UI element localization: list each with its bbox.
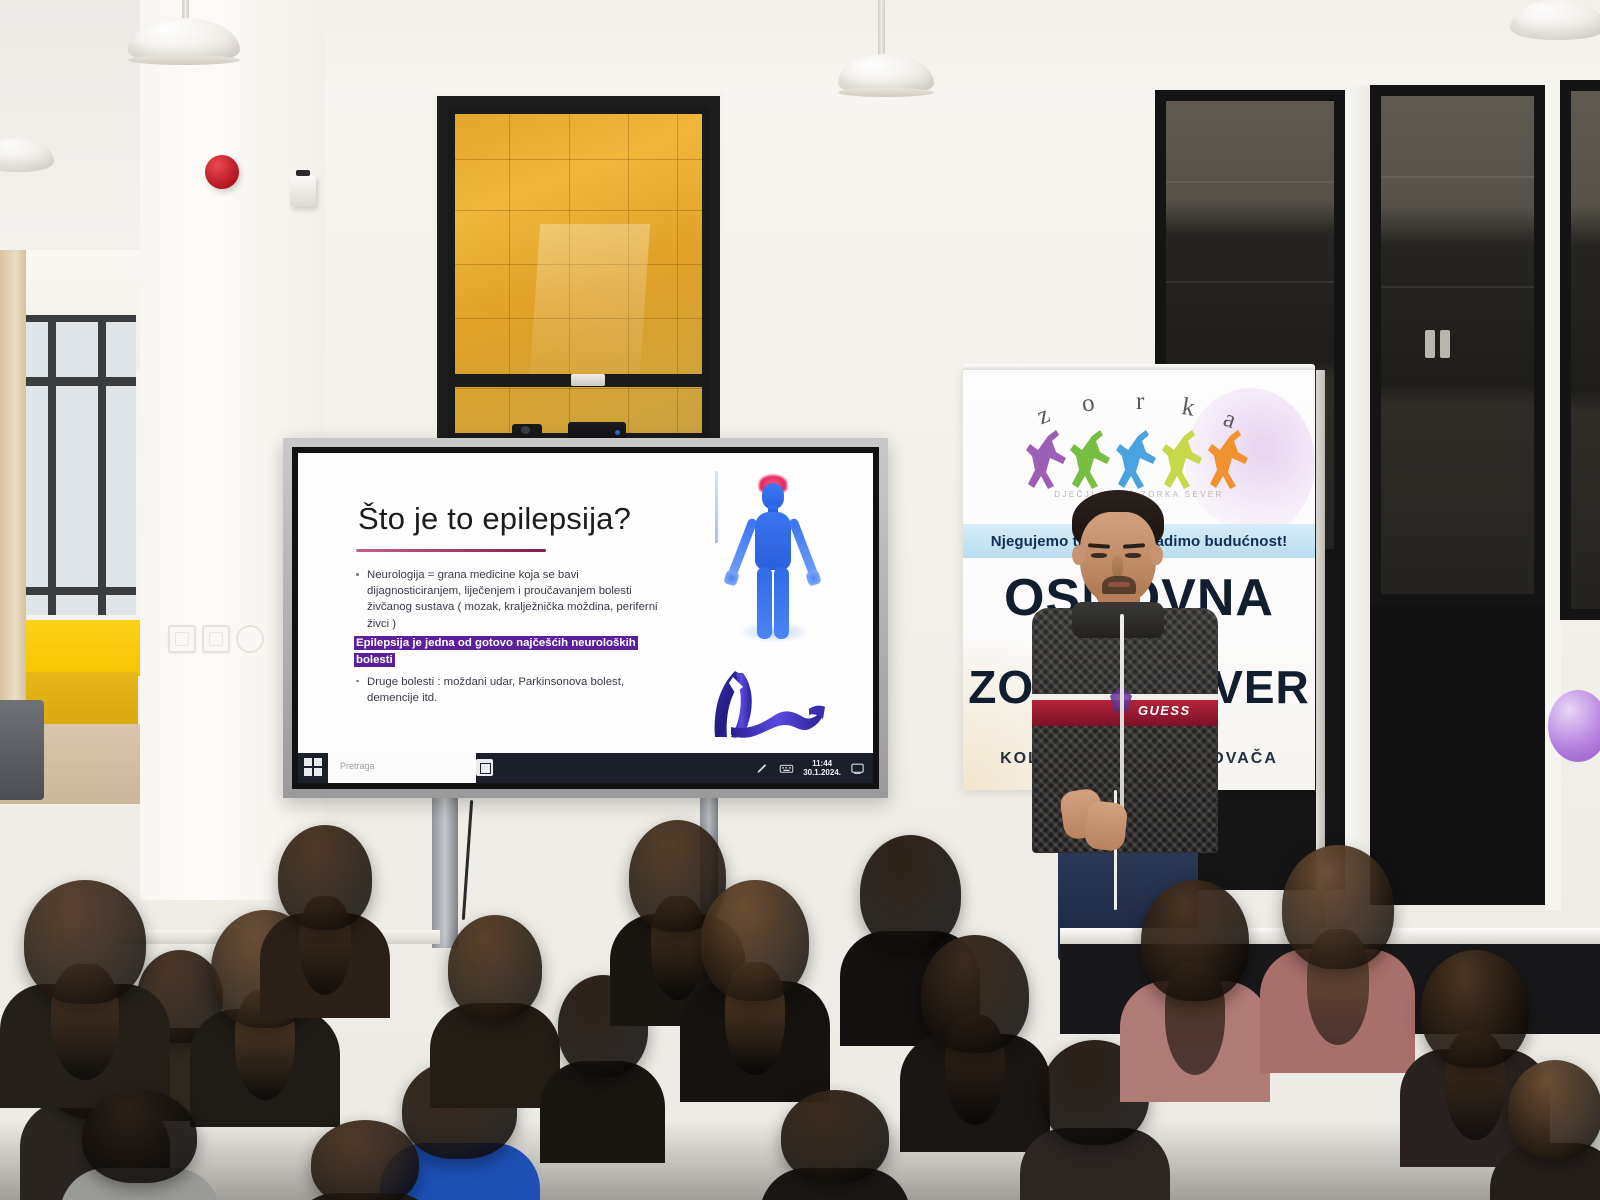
presenter-eye <box>1091 553 1107 558</box>
light-switch[interactable] <box>202 625 230 653</box>
left-window <box>18 315 136 615</box>
audience-person <box>680 880 830 1075</box>
audience-person <box>260 825 390 995</box>
audience-person-head <box>448 915 542 1020</box>
screen[interactable]: Što je to epilepsija? Neurologija = gran… <box>298 453 873 783</box>
interior-window <box>437 96 720 451</box>
lamp-rim <box>128 55 240 65</box>
audience-person <box>760 1090 910 1200</box>
logo-letter: k <box>1180 393 1197 423</box>
audience-person <box>1260 845 1415 1045</box>
logo-letter: r <box>1136 388 1144 416</box>
audience-person <box>1120 880 1270 1075</box>
glass-door[interactable] <box>1560 80 1600 620</box>
glass-reflection <box>530 224 650 374</box>
dancer-figure <box>1026 428 1070 490</box>
shelf-bottles <box>1425 330 1465 358</box>
dimmer-knob[interactable] <box>236 625 264 653</box>
motion-sensor-icon <box>290 175 316 207</box>
adjacent-room <box>0 0 150 800</box>
student-audience <box>0 760 1600 1200</box>
audience-person-head <box>860 835 961 950</box>
audience-person-head <box>24 880 146 1004</box>
light-switch[interactable] <box>168 625 196 653</box>
audience-person <box>1490 1060 1600 1200</box>
audience-person-head <box>1508 1060 1600 1159</box>
presentation-room-photo: z o r k a DJEČJI VRTIĆ ZORKA SEVER Njegu… <box>0 0 1600 1200</box>
audience-person <box>0 880 170 1080</box>
logo-letter: o <box>1080 389 1096 418</box>
lamp-rim <box>838 88 934 97</box>
audience-person-head <box>1421 950 1529 1068</box>
jacket-brand-label: GUESS <box>1138 703 1191 718</box>
window-handle[interactable] <box>571 374 605 386</box>
audience-person-head <box>1141 880 1249 1001</box>
slide-body: Neurologija = grana medicine koja se bav… <box>354 567 664 708</box>
slide-bullet: Druge bolesti : moždani udar, Parkinsono… <box>354 674 664 706</box>
nervous-system-human-figure-icon <box>715 471 831 646</box>
slide-highlighted-line: Epilepsija je jedna od gotovo najčešćih … <box>354 635 664 669</box>
interactive-display[interactable]: Što je to epilepsija? Neurologija = gran… <box>283 438 888 798</box>
dancer-figure <box>1162 428 1206 490</box>
audience-person-head <box>921 935 1029 1053</box>
audience-person-head <box>311 1120 419 1200</box>
presenter-mouth <box>1108 582 1130 587</box>
slide-bullet: Neurologija = grana medicine koja se bav… <box>354 567 664 632</box>
highlight-text: Epilepsija je jedna od gotovo najčešćih … <box>354 636 638 667</box>
logo-letter: z <box>1033 401 1054 431</box>
audience-person <box>60 1090 220 1200</box>
audience-person-head <box>82 1090 197 1183</box>
audience-person-head <box>781 1090 889 1183</box>
display-bezel: Što je to epilepsija? Neurologija = gran… <box>292 447 879 789</box>
presenter-nose <box>1112 556 1123 578</box>
awareness-ribbon-icon <box>709 665 829 745</box>
audience-person-head <box>278 825 372 930</box>
presentation-slide[interactable]: Što je to epilepsija? Neurologija = gran… <box>298 453 873 753</box>
presenter-eye <box>1125 553 1141 558</box>
audience-person-head <box>1282 845 1394 969</box>
audience-person-head <box>701 880 809 1001</box>
zorka-logo: z o r k a <box>1024 392 1254 490</box>
presenter-ear <box>1072 545 1085 565</box>
presenter-collar <box>1072 602 1164 638</box>
wooden-column <box>0 250 26 730</box>
fire-alarm-icon[interactable] <box>205 155 239 189</box>
purple-balloon <box>1548 690 1600 762</box>
slide-title: Što je to epilepsija? <box>358 501 631 537</box>
audience-person <box>290 1120 440 1200</box>
presenter-ear <box>1150 545 1163 565</box>
dancer-figure <box>1208 428 1252 490</box>
lamp-rod <box>878 0 885 58</box>
dancer-figure <box>1070 428 1114 490</box>
dancer-figure <box>1116 428 1160 490</box>
slide-title-underline <box>356 549 546 552</box>
